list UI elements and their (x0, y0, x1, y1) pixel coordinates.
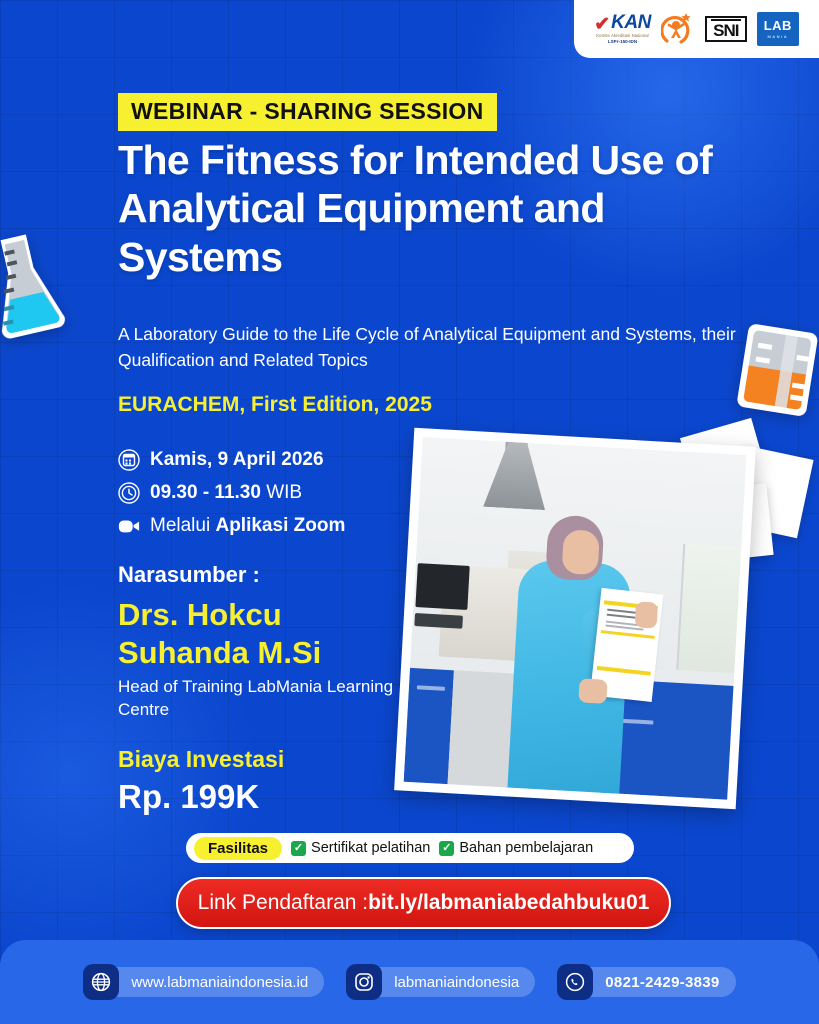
website-text: www.labmaniaindonesia.id (107, 967, 324, 997)
video-camera-icon (118, 515, 140, 537)
check-icon: ✓ (439, 841, 454, 856)
event-time: 09.30 - 11.30 WIB (150, 482, 302, 504)
price-value: Rp. 199K (118, 778, 259, 816)
labmania-logo: LAB MANIA (757, 12, 799, 46)
facility-label: Bahan pembelajaran (459, 840, 593, 856)
register-link[interactable]: bit.ly/labmaniabedahbuku01 (368, 891, 649, 915)
labmania-line2: MANIA (767, 34, 788, 39)
meta-row-date: Kamis, 9 April 2026 (118, 443, 345, 476)
kan-logo: ✔ KAN Komite Akreditasi Nasional LSPr-15… (594, 13, 651, 44)
instagram-text: labmaniaindonesia (370, 967, 535, 997)
kan-check-icon: ✔ (594, 17, 610, 32)
speaker-section-label: Narasumber : (118, 562, 260, 588)
contact-website[interactable]: www.labmaniaindonesia.id (83, 964, 324, 1000)
facilities-tag: Fasilitas (194, 837, 282, 860)
event-meta-list: Kamis, 9 April 2026 09.30 - 11.30 WIB Me… (118, 443, 345, 542)
facility-item-materials: ✓ Bahan pembelajaran (439, 840, 593, 856)
whatsapp-text: 0821-2429-3839 (581, 967, 735, 997)
speaker-role: Head of Training LabMania Learning Centr… (118, 676, 408, 722)
check-icon: ✓ (291, 841, 306, 856)
clock-icon (118, 482, 140, 504)
webinar-poster: ✔ KAN Komite Akreditasi Nasional LSPr-15… (0, 0, 819, 1024)
whatsapp-icon (557, 964, 593, 1000)
event-date: Kamis, 9 April 2026 (150, 449, 324, 471)
speaker-name: Drs. Hokcu Suhanda M.Si (118, 596, 408, 672)
sni-logo: SNI (705, 16, 747, 43)
page-subtitle: A Laboratory Guide to the Life Cycle of … (118, 322, 738, 374)
speaker-photo (394, 428, 756, 810)
contact-instagram[interactable]: labmaniaindonesia (346, 964, 535, 1000)
globe-icon (83, 964, 119, 1000)
instagram-icon (346, 964, 382, 1000)
calendar-icon (118, 449, 140, 471)
contact-whatsapp[interactable]: 0821-2429-3839 (557, 964, 735, 1000)
kan-code: LSPr-150-IDN (608, 40, 637, 45)
sni-person-star-icon (661, 11, 695, 47)
facilities-bar: Fasilitas ✓ Sertifikat pelatihan ✓ Bahan… (186, 833, 634, 863)
flask-sticker-icon (0, 225, 74, 352)
facility-label: Sertifikat pelatihan (311, 840, 430, 856)
sni-label: SNI (713, 22, 738, 39)
register-prefix: Link Pendaftaran : (198, 891, 368, 915)
event-platform: Melalui Aplikasi Zoom (150, 515, 345, 537)
meta-row-platform: Melalui Aplikasi Zoom (118, 509, 345, 542)
webinar-tag: WEBINAR - SHARING SESSION (118, 93, 497, 131)
registration-link-button[interactable]: Link Pendaftaran : bit.ly/labmaniabedahb… (176, 877, 671, 929)
contact-footer: www.labmaniaindonesia.id labmaniaindones… (0, 940, 819, 1024)
kan-wordmark: KAN (611, 13, 651, 32)
page-title: The Fitness for Intended Use of Analytic… (118, 136, 718, 281)
accreditation-logo-badge: ✔ KAN Komite Akreditasi Nasional LSPr-15… (574, 0, 819, 58)
edition-label: EURACHEM, First Edition, 2025 (118, 393, 432, 417)
labmania-line1: LAB (764, 19, 792, 32)
meta-row-time: 09.30 - 11.30 WIB (118, 476, 345, 509)
kan-subtitle: Komite Akreditasi Nasional (596, 34, 648, 38)
beaker-sticker-icon (731, 317, 819, 429)
price-label: Biaya Investasi (118, 746, 284, 773)
facility-item-certificate: ✓ Sertifikat pelatihan (291, 840, 430, 856)
